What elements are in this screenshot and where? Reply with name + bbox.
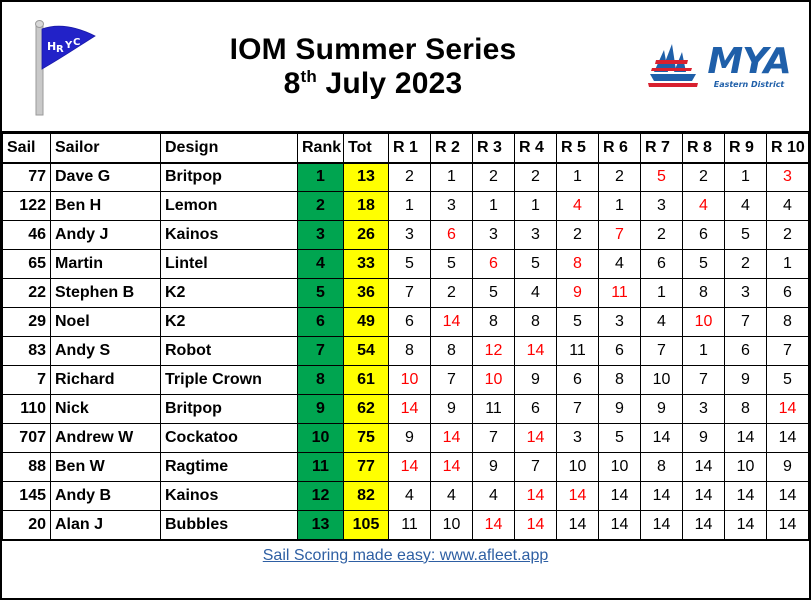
results-page: H R Y C IOM Summer Series 8th July 2023 [0,0,811,600]
cell-race-9: 4 [725,192,767,221]
cell-total: 49 [344,308,389,337]
cell-total: 18 [344,192,389,221]
cell-rank: 8 [298,366,344,395]
cell-race-3: 3 [473,221,515,250]
cell-sailor: Nick [51,395,161,424]
cell-sail: 88 [3,453,51,482]
cell-sailor: Stephen B [51,279,161,308]
cell-race-1: 6 [389,308,431,337]
cell-race-6: 6 [599,337,641,366]
cell-total: 82 [344,482,389,511]
cell-race-1: 5 [389,250,431,279]
cell-race-5: 14 [557,482,599,511]
column-header-r5[interactable]: R 5 [557,134,599,163]
column-header-sail[interactable]: Sail [3,134,51,163]
cell-design: Kainos [161,221,298,250]
cell-race-5: 9 [557,279,599,308]
cell-race-3: 8 [473,308,515,337]
mya-district-label: Eastern District [714,81,785,89]
cell-race-8: 14 [683,453,725,482]
cell-race-6: 1 [599,192,641,221]
cell-race-3: 9 [473,453,515,482]
cell-sail: 145 [3,482,51,511]
cell-rank: 1 [298,163,344,192]
cell-design: Kainos [161,482,298,511]
club-burgee-logo: H R Y C [2,2,122,131]
cell-race-1: 4 [389,482,431,511]
cell-race-6: 11 [599,279,641,308]
table-header: Sail Sailor Design Rank Tot R 1 R 2 R 3 … [3,134,809,163]
cell-race-5: 10 [557,453,599,482]
cell-rank: 2 [298,192,344,221]
cell-rank: 3 [298,221,344,250]
cell-sail: 46 [3,221,51,250]
cell-rank: 9 [298,395,344,424]
cell-race-7: 14 [641,482,683,511]
cell-race-6: 10 [599,453,641,482]
cell-race-2: 14 [431,308,473,337]
cell-sailor: Andy B [51,482,161,511]
cell-race-3: 5 [473,279,515,308]
cell-sailor: Andrew W [51,424,161,453]
cell-total: 77 [344,453,389,482]
header-row: Sail Sailor Design Rank Tot R 1 R 2 R 3 … [3,134,809,163]
cell-race-7: 5 [641,163,683,192]
cell-rank: 10 [298,424,344,453]
cell-sailor: Andy S [51,337,161,366]
cell-race-5: 4 [557,192,599,221]
column-header-r2[interactable]: R 2 [431,134,473,163]
cell-race-8: 14 [683,511,725,540]
cell-design: Lemon [161,192,298,221]
cell-race-10: 14 [767,395,809,424]
cell-race-5: 7 [557,395,599,424]
cell-rank: 6 [298,308,344,337]
cell-sail: 122 [3,192,51,221]
cell-total: 75 [344,424,389,453]
cell-race-1: 3 [389,221,431,250]
cell-race-10: 4 [767,192,809,221]
cell-race-2: 4 [431,482,473,511]
date-month-year: July 2023 [317,67,462,100]
cell-race-10: 14 [767,424,809,453]
table-body: 77Dave GBritpop1132122125213122Ben HLemo… [3,163,809,540]
cell-rank: 7 [298,337,344,366]
cell-sailor: Richard [51,366,161,395]
table-row: 46Andy JKainos3263633272652 [3,221,809,250]
cell-race-9: 6 [725,337,767,366]
cell-race-2: 5 [431,250,473,279]
mya-wordmark: MYA [707,44,790,80]
cell-sail: 83 [3,337,51,366]
cell-race-10: 7 [767,337,809,366]
cell-race-6: 14 [599,511,641,540]
cell-race-2: 9 [431,395,473,424]
cell-race-3: 10 [473,366,515,395]
table-row: 22Stephen BK253672549111836 [3,279,809,308]
cell-race-1: 8 [389,337,431,366]
cell-race-7: 4 [641,308,683,337]
cell-race-3: 7 [473,424,515,453]
cell-race-10: 2 [767,221,809,250]
cell-race-1: 9 [389,424,431,453]
cell-race-7: 2 [641,221,683,250]
cell-race-3: 1 [473,192,515,221]
cell-race-8: 5 [683,250,725,279]
mya-logo: MYA Eastern District [624,2,809,131]
cell-sail: 110 [3,395,51,424]
cell-race-4: 5 [515,250,557,279]
cell-sail: 22 [3,279,51,308]
cell-race-9: 14 [725,424,767,453]
cell-design: Britpop [161,163,298,192]
cell-race-4: 14 [515,511,557,540]
svg-text:H: H [47,40,56,53]
cell-race-10: 14 [767,482,809,511]
cell-race-4: 14 [515,482,557,511]
cell-race-1: 2 [389,163,431,192]
cell-race-10: 1 [767,250,809,279]
cell-race-3: 4 [473,482,515,511]
column-header-r10[interactable]: R 10 [767,134,809,163]
svg-text:C: C [73,37,80,48]
cell-race-1: 10 [389,366,431,395]
cell-race-5: 5 [557,308,599,337]
cell-sail: 20 [3,511,51,540]
cell-race-5: 11 [557,337,599,366]
cell-race-8: 6 [683,221,725,250]
date-day: 8 [284,67,301,100]
cell-race-5: 1 [557,163,599,192]
cell-sailor: Martin [51,250,161,279]
column-header-r6[interactable]: R 6 [599,134,641,163]
cell-total: 62 [344,395,389,424]
cell-race-4: 9 [515,366,557,395]
cell-race-8: 9 [683,424,725,453]
cell-race-4: 3 [515,221,557,250]
mya-sailboat-icon [642,40,704,94]
cell-race-4: 7 [515,453,557,482]
column-header-r3[interactable]: R 3 [473,134,515,163]
cell-race-1: 1 [389,192,431,221]
cell-race-2: 14 [431,453,473,482]
cell-race-3: 11 [473,395,515,424]
cell-race-2: 10 [431,511,473,540]
cell-sailor: Alan J [51,511,161,540]
cell-race-6: 9 [599,395,641,424]
cell-race-9: 14 [725,511,767,540]
column-header-r4[interactable]: R 4 [515,134,557,163]
cell-race-3: 14 [473,511,515,540]
cell-sail: 65 [3,250,51,279]
cell-total: 105 [344,511,389,540]
cell-race-9: 10 [725,453,767,482]
cell-race-7: 10 [641,366,683,395]
cell-race-8: 3 [683,395,725,424]
hryc-burgee-icon: H R Y C [19,13,105,121]
cell-race-4: 14 [515,337,557,366]
cell-race-1: 11 [389,511,431,540]
cell-sailor: Ben W [51,453,161,482]
table-row: 7RichardTriple Crown8611071096810795 [3,366,809,395]
cell-race-5: 8 [557,250,599,279]
cell-race-5: 2 [557,221,599,250]
cell-race-2: 14 [431,424,473,453]
date-ordinal-suffix: th [301,67,317,86]
cell-race-8: 14 [683,482,725,511]
table-row: 122Ben HLemon2181311413444 [3,192,809,221]
table-row: 88Ben WRagtime11771414971010814109 [3,453,809,482]
cell-race-8: 8 [683,279,725,308]
table-row: 110NickBritpop9621491167993814 [3,395,809,424]
cell-sail: 707 [3,424,51,453]
cell-race-1: 7 [389,279,431,308]
cell-race-9: 1 [725,163,767,192]
cell-total: 33 [344,250,389,279]
cell-race-9: 8 [725,395,767,424]
cell-sail: 77 [3,163,51,192]
column-header-tot[interactable]: Tot [344,134,389,163]
cell-total: 13 [344,163,389,192]
cell-race-10: 8 [767,308,809,337]
series-title: IOM Summer Series [122,33,624,67]
cell-race-6: 14 [599,482,641,511]
cell-race-8: 4 [683,192,725,221]
cell-race-7: 6 [641,250,683,279]
cell-race-9: 5 [725,221,767,250]
cell-design: Bubbles [161,511,298,540]
cell-race-7: 3 [641,192,683,221]
cell-race-2: 2 [431,279,473,308]
cell-race-10: 6 [767,279,809,308]
cell-race-6: 3 [599,308,641,337]
cell-race-3: 2 [473,163,515,192]
cell-race-3: 6 [473,250,515,279]
cell-race-10: 9 [767,453,809,482]
cell-race-6: 8 [599,366,641,395]
page-footer: Sail Scoring made easy: www.afleet.app [2,540,809,570]
cell-race-8: 1 [683,337,725,366]
cell-race-2: 3 [431,192,473,221]
cell-design: K2 [161,279,298,308]
cell-total: 61 [344,366,389,395]
cell-sail: 29 [3,308,51,337]
table-row: 29NoelK2649614885341078 [3,308,809,337]
cell-design: Cockatoo [161,424,298,453]
table-row: 83Andy SRobot7548812141167167 [3,337,809,366]
series-date: 8th July 2023 [122,67,624,101]
svg-text:Y: Y [64,40,73,51]
cell-race-10: 3 [767,163,809,192]
cell-race-8: 7 [683,366,725,395]
table-row: 707Andrew WCockatoo1075914714351491414 [3,424,809,453]
cell-total: 36 [344,279,389,308]
title-block: IOM Summer Series 8th July 2023 [122,33,624,100]
cell-race-1: 14 [389,395,431,424]
cell-race-4: 2 [515,163,557,192]
table-row: 20Alan JBubbles1310511101414141414141414 [3,511,809,540]
column-header-r1[interactable]: R 1 [389,134,431,163]
cell-rank: 5 [298,279,344,308]
column-header-rank[interactable]: Rank [298,134,344,163]
cell-race-4: 8 [515,308,557,337]
cell-sailor: Andy J [51,221,161,250]
cell-race-7: 9 [641,395,683,424]
cell-race-5: 3 [557,424,599,453]
cell-design: Triple Crown [161,366,298,395]
cell-race-9: 14 [725,482,767,511]
cell-race-7: 14 [641,511,683,540]
cell-race-4: 4 [515,279,557,308]
cell-race-2: 6 [431,221,473,250]
cell-race-5: 6 [557,366,599,395]
cell-design: Britpop [161,395,298,424]
cell-race-8: 10 [683,308,725,337]
cell-race-6: 4 [599,250,641,279]
table-row: 145Andy BKainos128244414141414141414 [3,482,809,511]
cell-race-10: 14 [767,511,809,540]
cell-rank: 11 [298,453,344,482]
cell-race-7: 7 [641,337,683,366]
cell-race-9: 2 [725,250,767,279]
cell-race-6: 2 [599,163,641,192]
cell-race-3: 12 [473,337,515,366]
column-header-r7[interactable]: R 7 [641,134,683,163]
cell-sail: 7 [3,366,51,395]
page-header: H R Y C IOM Summer Series 8th July 2023 [2,2,809,133]
cell-race-4: 6 [515,395,557,424]
cell-rank: 13 [298,511,344,540]
cell-rank: 4 [298,250,344,279]
cell-race-4: 1 [515,192,557,221]
afleet-link[interactable]: Sail Scoring made easy: www.afleet.app [263,547,548,565]
cell-total: 26 [344,221,389,250]
cell-race-6: 5 [599,424,641,453]
cell-sailor: Dave G [51,163,161,192]
results-table: Sail Sailor Design Rank Tot R 1 R 2 R 3 … [2,133,809,540]
cell-design: Ragtime [161,453,298,482]
cell-sailor: Ben H [51,192,161,221]
cell-race-9: 9 [725,366,767,395]
cell-race-6: 7 [599,221,641,250]
cell-design: Robot [161,337,298,366]
cell-race-7: 8 [641,453,683,482]
cell-race-8: 2 [683,163,725,192]
cell-race-7: 14 [641,424,683,453]
cell-race-9: 7 [725,308,767,337]
svg-text:R: R [56,44,64,55]
table-row: 65MartinLintel4335565846521 [3,250,809,279]
cell-sailor: Noel [51,308,161,337]
cell-race-9: 3 [725,279,767,308]
cell-race-5: 14 [557,511,599,540]
column-header-sailor[interactable]: Sailor [51,134,161,163]
column-header-r8[interactable]: R 8 [683,134,725,163]
cell-rank: 12 [298,482,344,511]
cell-race-2: 8 [431,337,473,366]
table-row: 77Dave GBritpop1132122125213 [3,163,809,192]
cell-race-7: 1 [641,279,683,308]
cell-race-2: 7 [431,366,473,395]
cell-race-4: 14 [515,424,557,453]
cell-race-2: 1 [431,163,473,192]
cell-design: Lintel [161,250,298,279]
cell-design: K2 [161,308,298,337]
column-header-design[interactable]: Design [161,134,298,163]
cell-race-1: 14 [389,453,431,482]
column-header-r9[interactable]: R 9 [725,134,767,163]
cell-total: 54 [344,337,389,366]
cell-race-10: 5 [767,366,809,395]
